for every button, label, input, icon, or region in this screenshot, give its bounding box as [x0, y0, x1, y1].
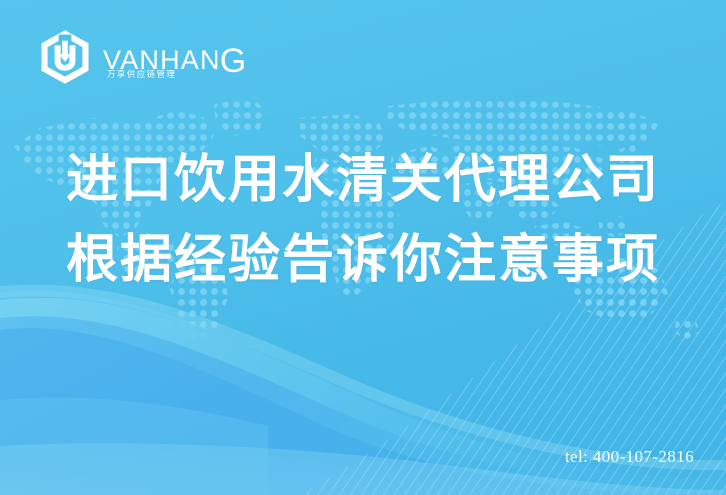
hexagon-u-arrow-icon	[36, 28, 94, 86]
contact-phone: tel: 400-107-2816	[565, 447, 694, 467]
poster-canvas: VANHANG 万享供应链管理 进口饮用水清关代理公司 根据经验告诉你注意事项 …	[0, 0, 726, 495]
headline-line-1: 进口饮用水清关代理公司	[0, 140, 726, 220]
logo-wordmark-g: G	[220, 42, 248, 80]
headline-block: 进口饮用水清关代理公司 根据经验告诉你注意事项	[0, 140, 726, 300]
logo-subtitle: 万享供应链管理	[107, 70, 176, 79]
headline-line-2: 根据经验告诉你注意事项	[0, 220, 726, 300]
brand-logo: VANHANG 万享供应链管理	[36, 28, 248, 86]
